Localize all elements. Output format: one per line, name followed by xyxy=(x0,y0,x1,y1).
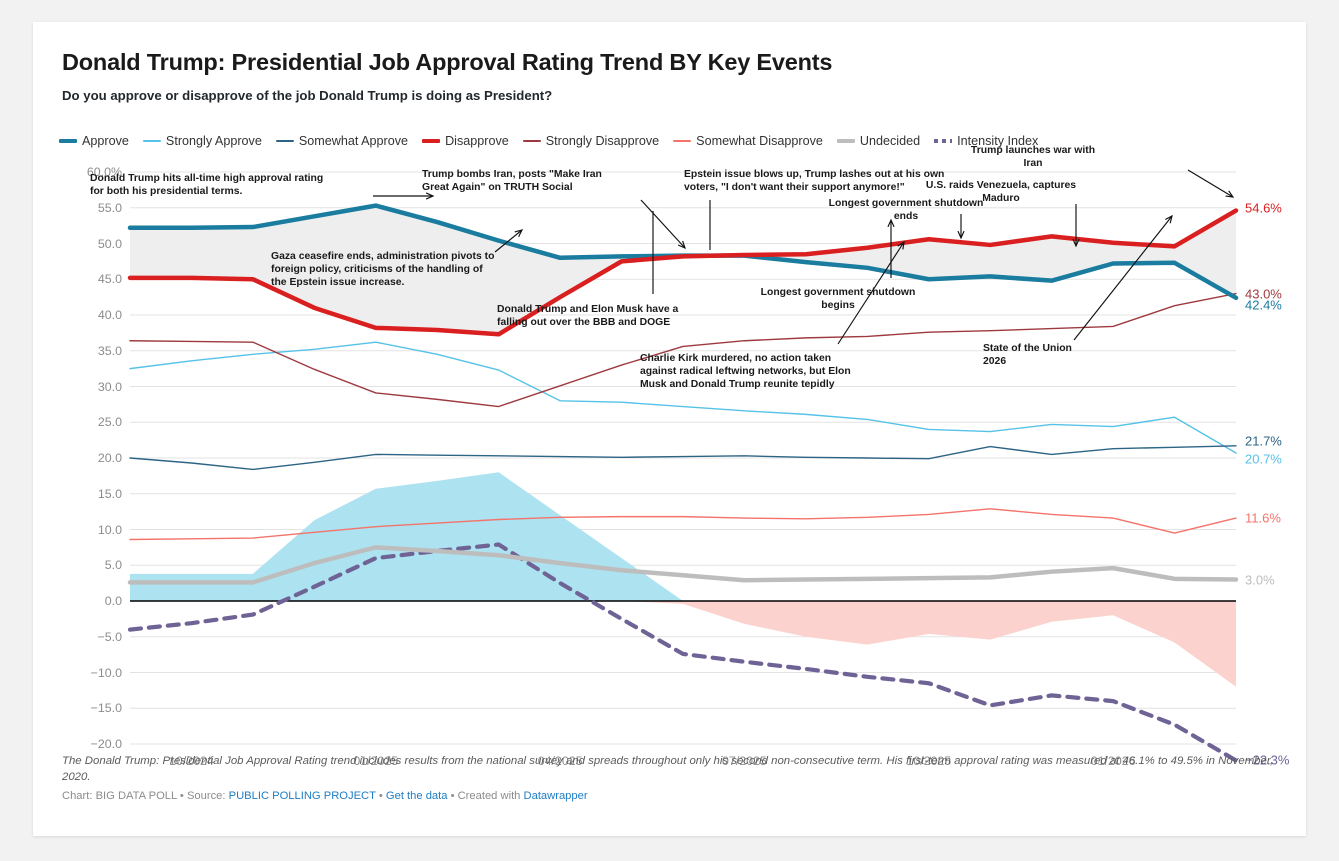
annotation-venezuela-raid: U.S. raids Venezuela, captures Maduro xyxy=(891,179,1111,205)
chart-credit: Chart: BIG DATA POLL • Source: PUBLIC PO… xyxy=(62,790,588,802)
y-axis-tick-label: −15.0 xyxy=(64,701,122,715)
y-axis-tick-label: −5.0 xyxy=(64,630,122,644)
get-the-data-link[interactable]: Get the data xyxy=(386,790,448,802)
y-axis-tick-label: 55.0 xyxy=(64,201,122,215)
credit-mid: • xyxy=(376,790,386,802)
end-label-somewhat-approve: 21.7% xyxy=(1245,433,1282,448)
y-axis-tick-label: 40.0 xyxy=(64,308,122,322)
annotation-musk-falling-out: Donald Trump and Elon Musk have a fallin… xyxy=(497,303,678,329)
annotation-state-of-union: State of the Union 2026 xyxy=(983,342,1072,368)
source-link[interactable]: PUBLIC POLLING PROJECT xyxy=(229,790,376,802)
y-axis-tick-label: 25.0 xyxy=(64,415,122,429)
credit-prefix: Chart: BIG DATA POLL • Source: xyxy=(62,790,229,802)
annotation-connector-war-with-iran xyxy=(1188,170,1233,197)
annotation-connector-trump-bombs-iran xyxy=(641,200,685,248)
end-label-strongly-disapprove: 43.0% xyxy=(1245,286,1282,301)
chart-card: Donald Trump: Presidential Job Approval … xyxy=(33,22,1306,836)
annotation-connector-state-of-union xyxy=(1074,216,1172,340)
end-label-strongly-approve: 20.7% xyxy=(1245,451,1282,466)
annotation-arrowhead-war-with-iran xyxy=(1226,191,1233,197)
y-axis-tick-label: 20.0 xyxy=(64,451,122,465)
annotation-war-with-iran: Trump launches war with Iran xyxy=(923,144,1143,170)
y-axis-tick-label: 15.0 xyxy=(64,487,122,501)
series-line-somewhat-disapprove[interactable] xyxy=(130,509,1236,540)
annotation-all-time-high: Donald Trump hits all-time high approval… xyxy=(90,172,323,198)
end-label-somewhat-disapprove: 11.6% xyxy=(1245,511,1281,526)
datawrapper-link[interactable]: Datawrapper xyxy=(524,790,588,802)
y-axis-tick-label: 5.0 xyxy=(64,558,122,572)
y-axis-tick-label: −20.0 xyxy=(64,737,122,751)
end-label-disapprove: 54.6% xyxy=(1245,200,1282,215)
annotation-gaza-ceasefire: Gaza ceasefire ends, administration pivo… xyxy=(271,250,494,290)
annotation-charlie-kirk: Charlie Kirk murdered, no action taken a… xyxy=(640,352,851,392)
y-axis-tick-label: 0.0 xyxy=(64,594,122,608)
annotation-shutdown-begins: Longest government shutdown begins xyxy=(728,286,948,312)
end-label-undecided: 3.0% xyxy=(1245,572,1275,587)
band-intensity-spread-positive xyxy=(130,472,1236,601)
band-intensity-spread-negative xyxy=(130,601,1236,687)
y-axis-tick-label: 50.0 xyxy=(64,237,122,251)
chart-plot-area: 60.0%55.050.045.040.035.030.025.020.015.… xyxy=(33,22,1306,836)
y-axis-tick-label: 35.0 xyxy=(64,344,122,358)
annotation-trump-bombs-iran: Trump bombs Iran, posts "Make Iran Great… xyxy=(422,168,602,194)
y-axis-tick-label: −10.0 xyxy=(64,666,122,680)
y-axis-tick-label: 45.0 xyxy=(64,272,122,286)
chart-footnote: The Donald Trump: Presidential Job Appro… xyxy=(62,753,1277,785)
credit-suffix: • Created with xyxy=(447,790,523,802)
y-axis-tick-label: 10.0 xyxy=(64,523,122,537)
y-axis-tick-label: 30.0 xyxy=(64,380,122,394)
